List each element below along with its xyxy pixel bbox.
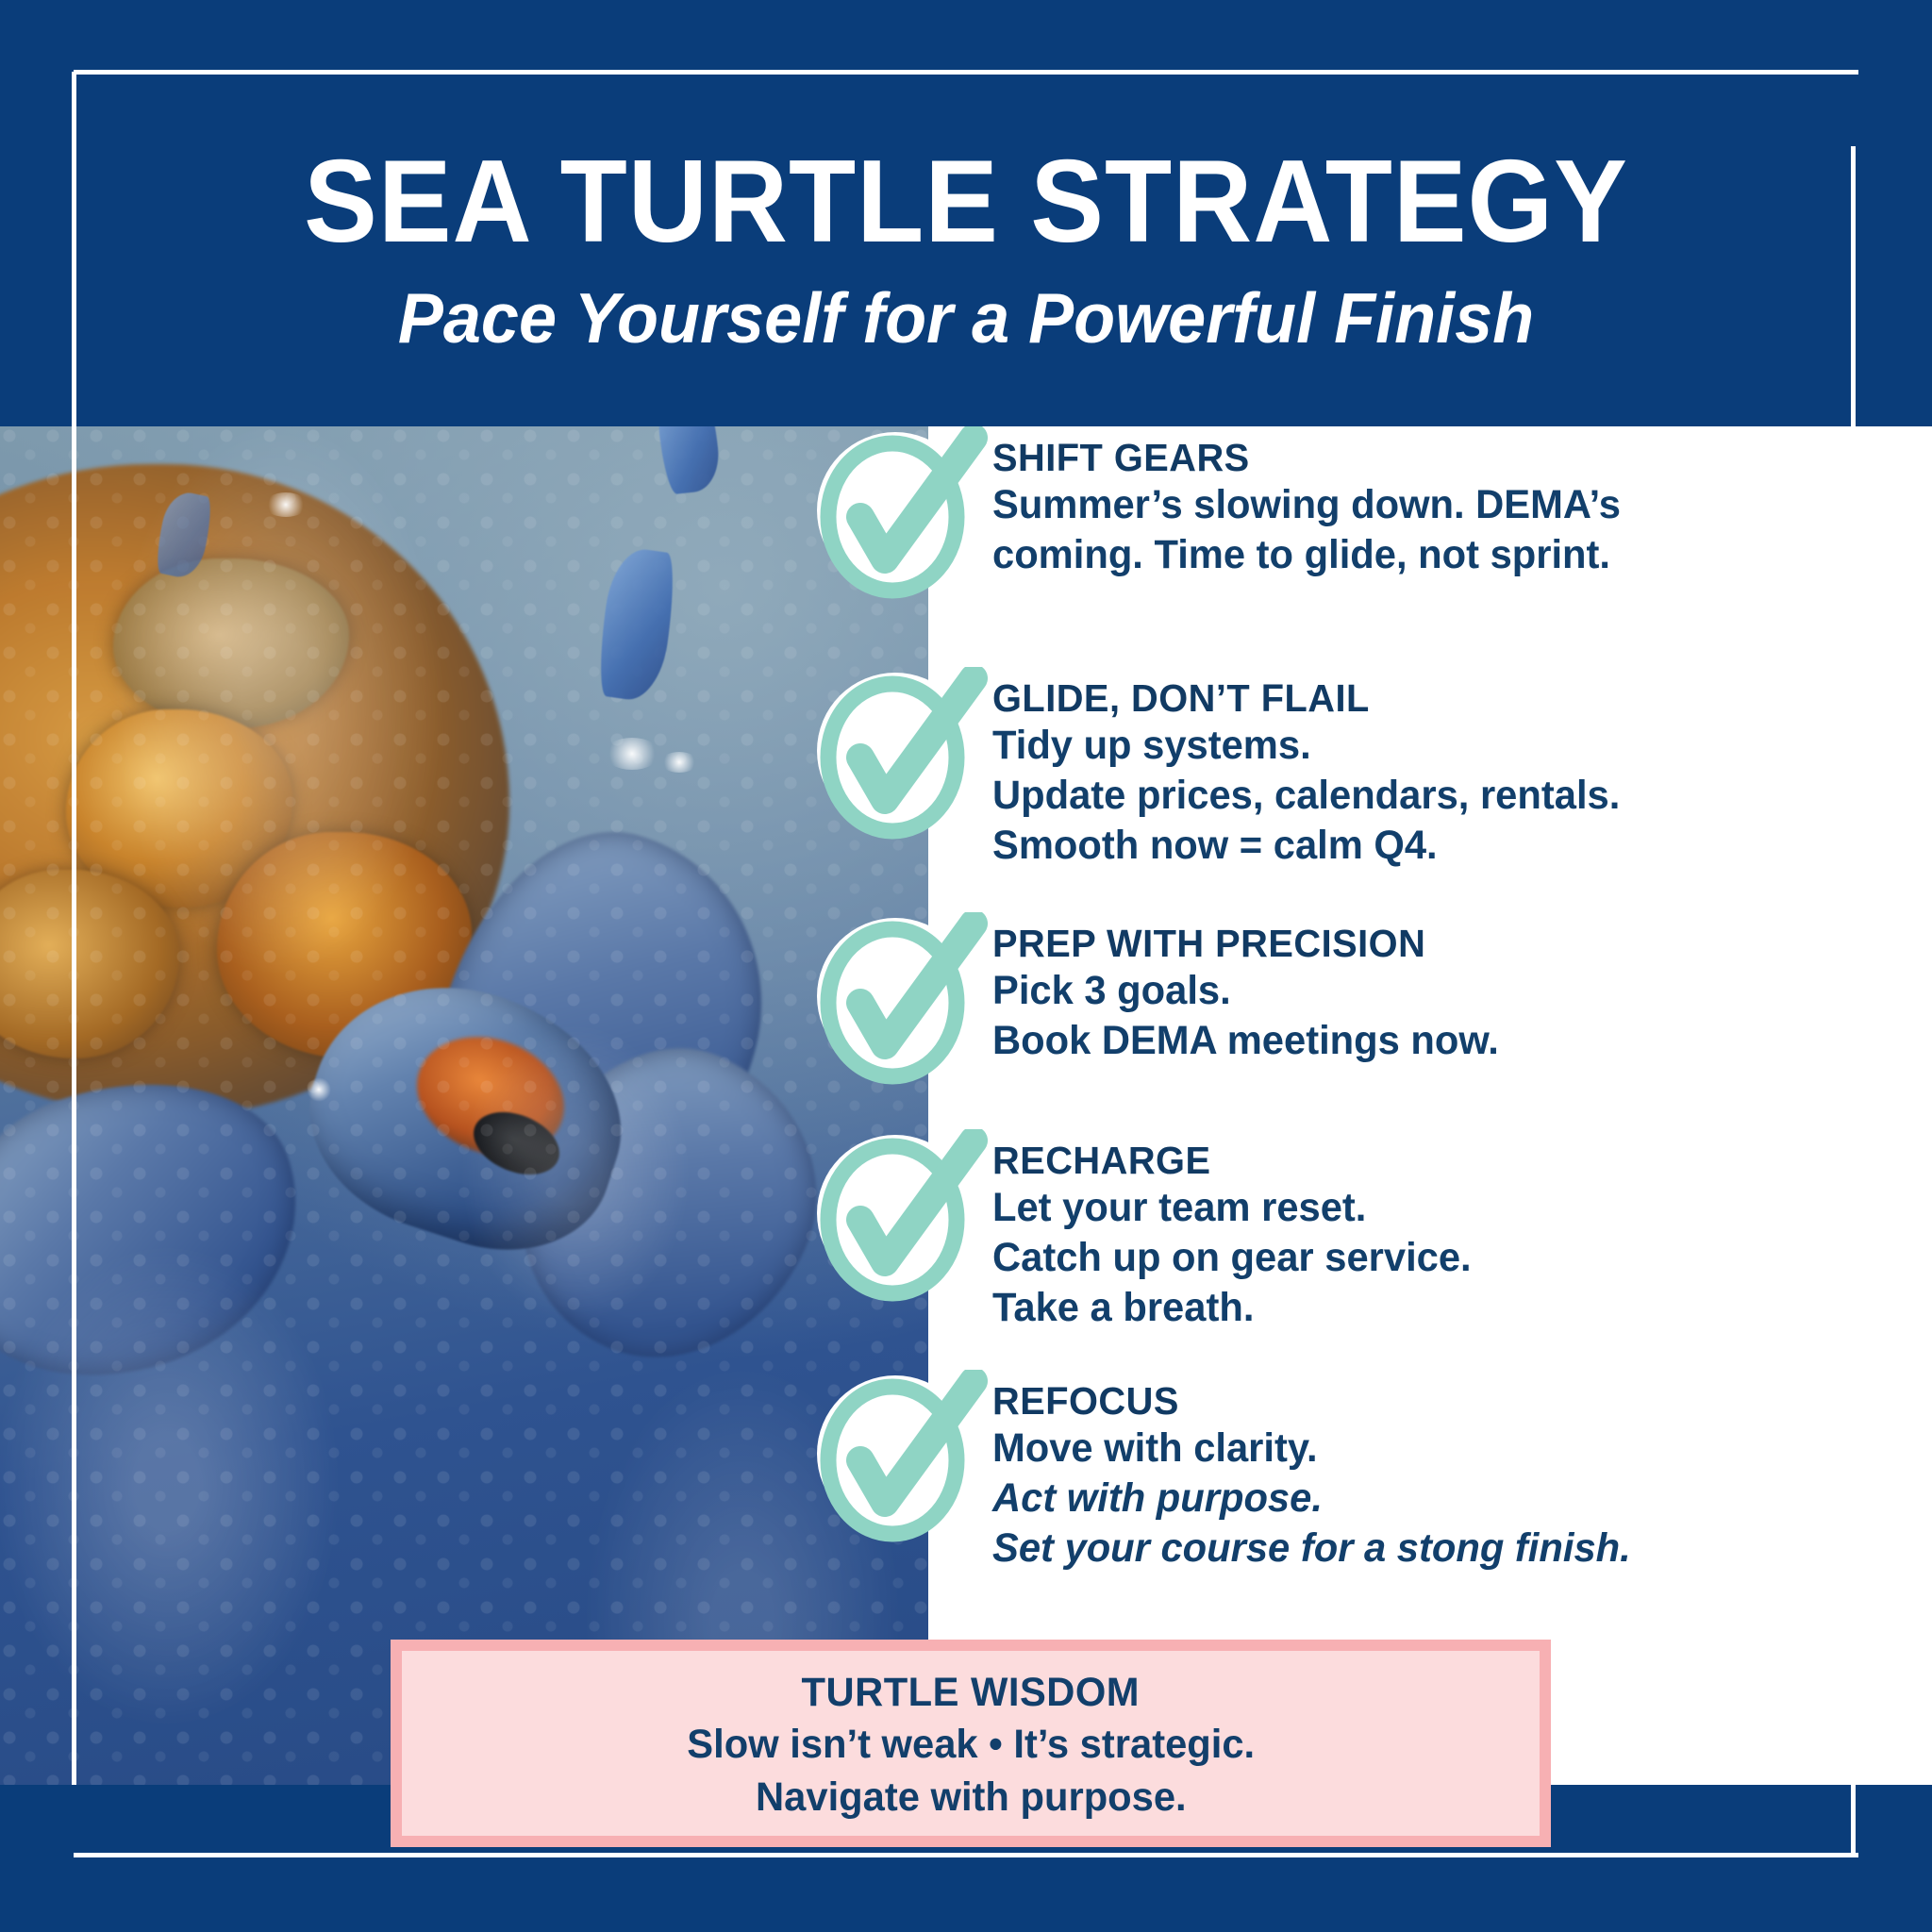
turtle-photo — [0, 426, 928, 1785]
list-item-text: SHIFT GEARS Summer’s slowing down. DEMA’… — [979, 426, 1641, 580]
check-circle-icon — [811, 1370, 979, 1538]
check-glyph — [811, 912, 996, 1088]
list-item-line: Move with clarity. — [992, 1424, 1631, 1474]
list-item: RECHARGE Let your team reset. Catch up o… — [811, 1129, 1486, 1333]
turtle-wisdom-line: Navigate with purpose. — [756, 1772, 1187, 1824]
turtle-wisdom-line: Slow isn’t weak • It’s strategic. — [687, 1719, 1255, 1771]
list-item-line: Catch up on gear service. — [992, 1233, 1472, 1283]
check-glyph — [811, 426, 996, 602]
check-glyph — [811, 667, 996, 842]
page-title: SEA TURTLE STRATEGY — [58, 143, 1874, 260]
check-circle-icon — [811, 1129, 979, 1297]
list-item: GLIDE, DON’T FLAIL Tidy up systems. Upda… — [811, 667, 1640, 871]
list-item-text: PREP WITH PRECISION Pick 3 goals. Book D… — [979, 912, 1514, 1066]
list-item: PREP WITH PRECISION Pick 3 goals. Book D… — [811, 912, 1514, 1080]
list-item-line: Set your course for a stong finish. — [992, 1524, 1631, 1574]
check-circle-icon — [811, 667, 979, 835]
frame-line-top — [74, 70, 1858, 75]
list-item-line: Pick 3 goals. — [992, 966, 1499, 1016]
list-item-line: Summer’s slowing down. DEMA’s — [992, 480, 1621, 530]
list-item-text: REFOCUS Move with clarity. Act with purp… — [979, 1370, 1651, 1574]
frame-line-bottom — [74, 1853, 1858, 1857]
turtle-wisdom-callout: TURTLE WISDOM Slow isn’t weak • It’s str… — [391, 1640, 1551, 1847]
list-item-text: RECHARGE Let your team reset. Catch up o… — [979, 1129, 1486, 1333]
check-glyph — [811, 1129, 996, 1305]
turtle-wisdom-title: TURTLE WISDOM — [802, 1667, 1140, 1719]
list-item-line: Book DEMA meetings now. — [992, 1016, 1499, 1066]
water-sparkle — [264, 492, 308, 517]
water-sparkle — [660, 752, 698, 773]
frame-line-left — [72, 72, 76, 1785]
header-band: SEA TURTLE STRATEGY Pace Yourself for a … — [0, 0, 1932, 426]
turtle-wisdom-inner: TURTLE WISDOM Slow isn’t weak • It’s str… — [402, 1651, 1540, 1836]
check-glyph — [811, 1370, 996, 1545]
list-item-line: Act with purpose. — [992, 1474, 1631, 1524]
list-item-title: REFOCUS — [992, 1379, 1631, 1424]
check-circle-icon — [811, 426, 979, 594]
water-sparkle — [604, 738, 660, 770]
checklist: SHIFT GEARS Summer’s slowing down. DEMA’… — [811, 426, 1932, 1785]
list-item-title: RECHARGE — [992, 1139, 1472, 1183]
list-item-line: Take a breath. — [992, 1283, 1472, 1333]
list-item-line: coming. Time to glide, not sprint. — [992, 530, 1621, 580]
list-item-line: Tidy up systems. — [992, 721, 1620, 771]
list-item: SHIFT GEARS Summer’s slowing down. DEMA’… — [811, 426, 1641, 594]
list-item-title: PREP WITH PRECISION — [992, 922, 1499, 966]
list-item-line: Smooth now = calm Q4. — [992, 821, 1620, 871]
check-circle-icon — [811, 912, 979, 1080]
list-item-title: GLIDE, DON’T FLAIL — [992, 676, 1620, 721]
list-item-title: SHIFT GEARS — [992, 436, 1621, 480]
frame-line-right — [1851, 146, 1856, 1857]
water-caustics — [0, 426, 928, 1785]
poster-canvas: SEA TURTLE STRATEGY Pace Yourself for a … — [0, 0, 1932, 1932]
list-item-text: GLIDE, DON’T FLAIL Tidy up systems. Upda… — [979, 667, 1640, 871]
list-item-line: Let your team reset. — [992, 1183, 1472, 1233]
list-item-line: Update prices, calendars, rentals. — [992, 771, 1620, 821]
water-sparkle — [307, 1077, 331, 1102]
page-subtitle: Pace Yourself for a Powerful Finish — [39, 283, 1893, 354]
list-item: REFOCUS Move with clarity. Act with purp… — [811, 1370, 1651, 1574]
